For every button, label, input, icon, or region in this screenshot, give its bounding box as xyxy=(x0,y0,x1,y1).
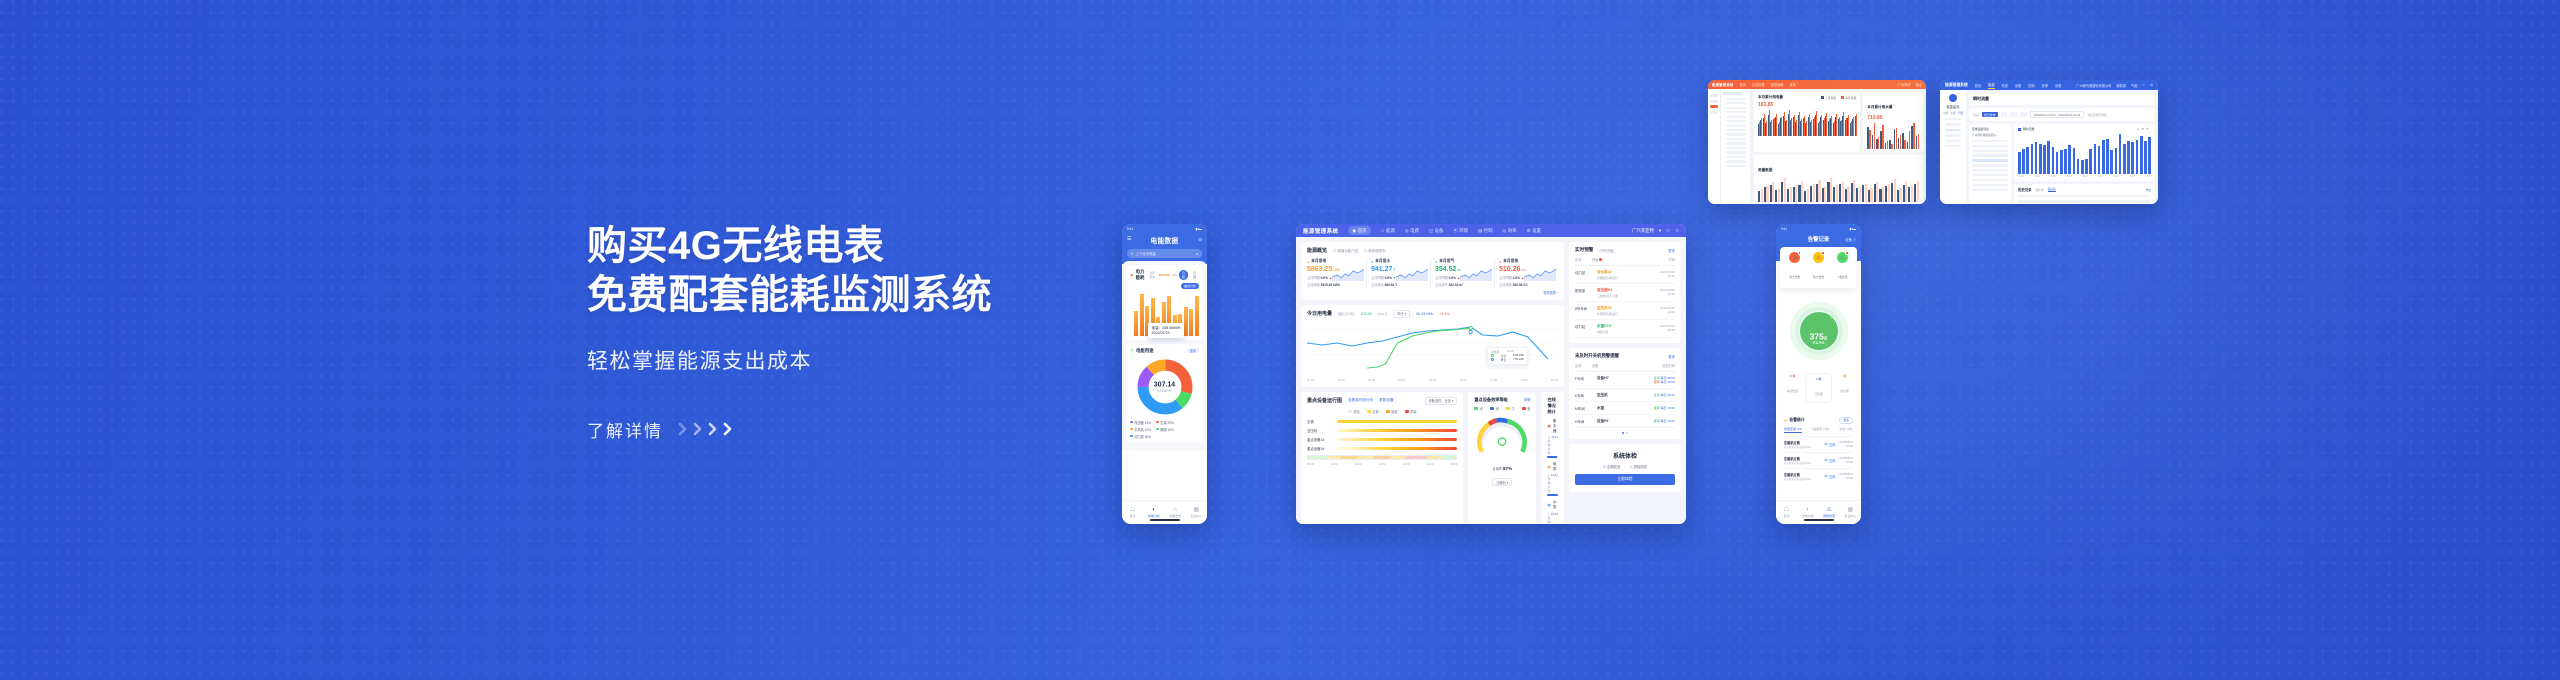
chevron-down-icon[interactable]: ▾ xyxy=(1659,228,1661,234)
notification-icon[interactable]: ☉ xyxy=(1666,228,1670,234)
alarm-category[interactable]: ⚠重大告警 xyxy=(1783,252,1807,283)
ph1-tab-analysis[interactable]: ◐用电分析 xyxy=(1143,507,1164,519)
search-input[interactable]: ⚲ 上个月总电量 ● xyxy=(1127,249,1202,258)
online-row-sub: 上线数/总数10/12 xyxy=(1547,512,1558,524)
run-row: 空压机 xyxy=(1307,428,1457,433)
tablet-menu-efficiency[interactable]: ◎效率 xyxy=(1503,228,1517,234)
bar xyxy=(2035,142,2038,174)
bar-curr xyxy=(1806,121,1807,135)
home-indicator xyxy=(1150,519,1180,521)
reminder-row[interactable]: M车间水室部闭 每日 15:00 xyxy=(1575,402,1675,415)
d2-tree-node[interactable] xyxy=(1972,174,2008,176)
chevrons-right-icon xyxy=(677,421,736,437)
bar xyxy=(1195,296,1199,336)
screenshot-mobile-alarm-records[interactable]: 9:41 ▮▾▬ 告警记录 设备 ▢ ⚠重大告警⚠较大告警⚠一般告警 375天 xyxy=(1776,224,1861,524)
tablet-menu-control[interactable]: ▤控制 xyxy=(1478,228,1492,234)
screenshot-desktop-flow-monitor[interactable]: 能源管理系统 首页 能源 电费 设备 控制 效率 设置 广州现代城盛电有限公司 … xyxy=(1940,80,2158,204)
bar xyxy=(2102,140,2105,175)
bar xyxy=(1184,307,1188,336)
alarm-device: 变压器H1 xyxy=(1597,288,1655,293)
tooltip-swatch xyxy=(1491,358,1493,360)
ph2-tab-alarm[interactable]: ⚠用能告警 xyxy=(1819,507,1840,519)
d2-gear-icon[interactable]: ⚙ xyxy=(2150,83,2153,87)
kpi-header: ●本月用水 xyxy=(1371,259,1426,264)
alarm-device: 水室KT3 xyxy=(1597,324,1655,329)
d2-sidebar-tab-2[interactable]: 气能 xyxy=(1958,111,1963,115)
d2-right-item-0[interactable]: 新能源 xyxy=(2116,83,2126,88)
tablet-menu-home[interactable]: ◉首页 xyxy=(1348,226,1370,235)
d2-tree-node-active[interactable] xyxy=(1972,159,2008,161)
d1-device-tree[interactable] xyxy=(1721,89,1751,204)
d1-rail-item-active[interactable] xyxy=(1710,105,1718,108)
d2-filter-opt[interactable] xyxy=(2010,112,2017,117)
bar-group xyxy=(1803,110,1804,136)
legend-item: 关机 xyxy=(1348,409,1360,414)
alarm-th-0: 区域 xyxy=(1575,257,1592,262)
d2-menu-item-3[interactable]: 设备 xyxy=(2015,83,2021,88)
sys-check-button[interactable]: 立即体检 xyxy=(1575,474,1675,485)
d2-tree-node[interactable] xyxy=(1972,184,2008,186)
d1-tree-node[interactable] xyxy=(1726,98,1746,100)
eff-rate: 87% xyxy=(1503,466,1512,471)
bar-group xyxy=(1868,178,1873,202)
realtime-alarm-card: 实时预警 (所有设备) 更多 区域 设备 时间 动力站深水泵3#长期低功率运行2… xyxy=(1569,242,1681,343)
alarm-stat-label: 本周告警 xyxy=(1787,389,1798,393)
today-value: 103.54 xyxy=(1361,312,1372,316)
legend-item: 动力部 36% xyxy=(1130,434,1151,439)
bar-curr xyxy=(1814,117,1815,136)
tablet-menu-fee[interactable]: ◎电费 xyxy=(1405,228,1419,234)
bar-curr xyxy=(1796,120,1797,135)
d2-menu-item-2[interactable]: 电费 xyxy=(2002,83,2008,88)
x-tick: 12:00 xyxy=(1490,378,1497,382)
d2-filter-note[interactable]: 对比历史同时段 xyxy=(2087,113,2107,117)
bar xyxy=(2022,149,2025,174)
reminder-zone: F车间 xyxy=(1575,376,1592,381)
ph2-list-tab-0[interactable]: 告警区域 (10) xyxy=(1784,427,1802,433)
d2-tree-node[interactable] xyxy=(1972,154,2008,156)
d2-chart-tools-icon[interactable]: ▲■▼ xyxy=(2136,127,2151,131)
bar-curr xyxy=(1761,118,1762,135)
ph1-card2-more[interactable]: 更多 xyxy=(1187,348,1199,354)
ph2-tab-home[interactable]: ☖首页 xyxy=(1776,507,1797,519)
overview-link-0[interactable]: ☐新增功能介绍 xyxy=(1333,248,1358,253)
bar-curr xyxy=(1826,113,1827,135)
d1-tree-node[interactable] xyxy=(1726,107,1746,109)
bar-curr xyxy=(1779,122,1780,136)
bar-group xyxy=(1765,110,1766,136)
d2-tree-node[interactable] xyxy=(1972,164,2008,166)
d1-menu-item-3[interactable]: 设置 xyxy=(1789,82,1795,87)
d1-rail-item[interactable] xyxy=(1710,94,1718,97)
d1-tree-node[interactable] xyxy=(1726,133,1746,135)
row-device: ▤ 空调 xyxy=(1824,458,1835,463)
alarm-row[interactable]: 动力站深水泵3#长期低功率运行2021/03/1512:35 xyxy=(1575,266,1675,284)
d2-tree-node[interactable] xyxy=(1972,150,2008,152)
bar-curr xyxy=(1874,123,1875,148)
bar-curr xyxy=(1774,118,1775,136)
d2-filter-opt[interactable] xyxy=(2001,112,2008,117)
today-usage-card: 今日用电量 (截止12:00) 103.54 kWh/元 昨天 ▾ 98.25 … xyxy=(1301,305,1564,387)
reminder-schedule: 全闭 每日 09:00 xyxy=(1654,393,1675,398)
d1-tree-node[interactable] xyxy=(1726,160,1746,162)
d2-bell-icon[interactable]: ☉ xyxy=(2142,83,2145,87)
alarm-stat[interactable]: 1条未处理 xyxy=(1832,373,1857,403)
bar-curr xyxy=(1905,182,1907,201)
d2-sidebar[interactable]: 能源监测 电能 水能 气能 xyxy=(1940,90,1966,204)
ph1-tab-alarm[interactable]: ⚠用能告警 xyxy=(1165,507,1186,519)
d1-tree-node[interactable] xyxy=(1726,138,1746,140)
ph1-tab-home[interactable]: ☖首页 xyxy=(1122,507,1143,519)
alarm-stat[interactable]: 10条已处理 xyxy=(1805,373,1832,403)
d2-right-item-1[interactable]: 气能 xyxy=(2131,83,2137,88)
d1-panel-1-title: 本月累计用水量 xyxy=(1867,105,1892,109)
d2-menu-item-5[interactable]: 效率 xyxy=(2042,83,2048,88)
run-header: 重点设备运行图 查看各时段分析 参数设置 设备选择：全选 ▾ xyxy=(1307,397,1457,405)
shield-icon: ☉ xyxy=(1630,465,1633,469)
online-progress xyxy=(1547,494,1558,496)
alarm-scope: (所有设备) xyxy=(1599,248,1614,253)
carousel-dots[interactable] xyxy=(1575,432,1675,434)
bar-group xyxy=(1805,110,1806,136)
x-tick: 02:00 xyxy=(1338,378,1345,382)
alarm-zone: 动力站 xyxy=(1575,270,1592,275)
headline-line-1: 购买4G无线电表 xyxy=(587,222,1107,271)
bar xyxy=(1140,294,1144,336)
d1-tree-node[interactable] xyxy=(1726,116,1746,118)
run-device-select[interactable]: 设备选择：全选 ▾ xyxy=(1425,397,1458,405)
d2-device-tree[interactable]: 区域设备列表 广州现代城盛集团公... xyxy=(1969,124,2011,204)
x-tick: 04:00 xyxy=(1331,462,1338,466)
bar-curr xyxy=(1830,178,1832,202)
alarm-desc: 三相电流不平衡 xyxy=(1597,294,1655,298)
d2-tree-node[interactable] xyxy=(1972,169,2008,171)
bar-group xyxy=(1842,110,1843,136)
d1-icon-rail[interactable] xyxy=(1708,89,1721,204)
d1-menu[interactable]: 首页 认证抄表 智慧运维 设置 xyxy=(1740,82,1796,87)
run-row-bar[interactable] xyxy=(1337,429,1457,432)
bar-group xyxy=(1847,110,1848,136)
ph1-card1-value: 3044.62 xyxy=(1159,273,1170,277)
bar xyxy=(2140,136,2143,175)
alarm-list-row[interactable]: 压缩机过载高于额定功率范围的20%▤ 空调2018/08/1112:56 xyxy=(1784,468,1853,484)
d2-menu-item-1[interactable]: 能源 xyxy=(1988,82,1994,89)
legend-item: 差 xyxy=(1522,406,1531,411)
run-row-bar[interactable] xyxy=(1337,438,1457,441)
row-desc: 高于额定功率范围的20% xyxy=(1784,477,1820,481)
ph1-chart-tooltip: 电量：268.56kWh 2022/01/15 xyxy=(1148,323,1184,338)
bar-group xyxy=(1818,110,1819,136)
run-link-1[interactable]: 参数设置 xyxy=(1379,398,1393,403)
bar-group xyxy=(1775,110,1776,136)
tooltip-title: 用电量 xyxy=(1491,350,1499,354)
bar-curr xyxy=(1818,180,1820,201)
alarm-row[interactable]: 8号车间空压机3#长期低功率运行2021/03/1510:05 xyxy=(1575,302,1675,320)
bar-curr xyxy=(1836,114,1837,135)
alarm-time: 2021/03/1508:36 xyxy=(1660,324,1675,333)
ph1-tab-daily[interactable]: 日报 xyxy=(1179,270,1188,280)
tablet-menu-device[interactable]: ◫设备 xyxy=(1429,228,1443,234)
ph2-list-tab-2[interactable]: 综合 (0条) xyxy=(1839,427,1853,433)
d2-sidebar-tab-0[interactable]: 电能 xyxy=(1943,111,1948,115)
d1-menu-item-0[interactable]: 首页 xyxy=(1740,82,1746,87)
bar-curr xyxy=(1784,112,1785,135)
help-icon[interactable]: ☉ xyxy=(1675,228,1679,234)
d1-tree-node[interactable] xyxy=(1726,129,1746,131)
remind-th-2: 检查时间 xyxy=(1662,363,1675,368)
d1-rail-item[interactable] xyxy=(1710,100,1718,103)
bolt-icon: ☆ xyxy=(1381,228,1385,234)
legend-item: 优 xyxy=(1474,406,1483,411)
list-icon: ☰ xyxy=(1784,418,1787,423)
bolt-icon: ● xyxy=(1307,260,1309,264)
alarm-stat[interactable]: 11条本周告警 xyxy=(1780,373,1805,403)
bar-curr xyxy=(1899,188,1901,202)
d1-tree-node[interactable] xyxy=(1726,165,1746,167)
d1-tree-node[interactable] xyxy=(1726,156,1746,158)
reminder-schedule: 部闭 每日 18:00 xyxy=(1654,419,1675,424)
x-tick: 14:00 xyxy=(1521,378,1528,382)
bar-curr xyxy=(1811,120,1812,136)
d1-menu-item-2[interactable]: 智慧运维 xyxy=(1771,82,1784,87)
ph2-device-filter[interactable]: 设备 ▢ xyxy=(1845,237,1856,242)
device-icon: ▣ xyxy=(1547,424,1550,428)
tablet-menu-settings[interactable]: ⚙设置 xyxy=(1527,228,1541,234)
mic-icon[interactable]: ● xyxy=(1196,252,1198,256)
bar xyxy=(1134,311,1138,336)
d2-sidebar-item[interactable] xyxy=(1945,140,1961,142)
efficiency-card: 重点设备效率等级 详情 优良中差 xyxy=(1468,392,1536,524)
d1-panel-2-title: 用量数据 xyxy=(1758,168,1772,172)
bar-group xyxy=(1778,110,1779,136)
bar xyxy=(2094,144,2097,174)
alarm-table-header: 区域 设备 时间 xyxy=(1575,257,1675,266)
bar-curr xyxy=(1764,114,1765,135)
bar-curr xyxy=(1894,179,1896,201)
reminder-row[interactable]: H车间设备F9部闭 每日 18:00 xyxy=(1575,415,1675,428)
alarm-row[interactable]: 动力站水室KT3B相过流2021/03/1508:36 xyxy=(1575,320,1675,338)
today-tooltip: 用电量 12:00 今日8.55 kWh 昨日7.83 kWh xyxy=(1487,347,1528,365)
bar xyxy=(2077,159,2080,174)
kpi-row: ●本月用电5863.25kWh上月同期 9.6% ▲上月用电 5319.45 k… xyxy=(1307,259,1558,287)
d2-sidebar-item[interactable] xyxy=(1945,134,1961,136)
tablet-user-area[interactable]: 广汽菲亚特 ▾ ☉ ☉ xyxy=(1632,228,1679,234)
tablet-body: 能源概览 ☐新增功能介绍 ☐系统说明书 ●本月用电5863.25kWh上月同期 … xyxy=(1296,237,1686,524)
d2-filter-bar[interactable]: 时间 按日查询 2019/08/19 00:00 ~ 2019/08/19 23… xyxy=(1969,108,2155,121)
run-timeline[interactable] xyxy=(1307,455,1457,460)
d2-menu-item-4[interactable]: 控制 xyxy=(2028,83,2034,88)
ph1-time: 9:41 xyxy=(1127,227,1133,231)
d1-tree-node[interactable] xyxy=(1726,142,1746,144)
bar-curr xyxy=(1887,141,1888,149)
tablet-menu-energy[interactable]: ☆能源 xyxy=(1381,228,1395,234)
eff-device-select[interactable]: 压缩机 ▾ xyxy=(1492,478,1512,486)
bar-group xyxy=(1798,178,1803,202)
bar-group xyxy=(1852,110,1853,136)
ph1-tabs[interactable]: 日报 月报 xyxy=(1179,270,1199,280)
bar-group xyxy=(1845,178,1850,202)
tooltip-swatch xyxy=(1491,354,1493,356)
d2-filter-range[interactable]: 2019/08/19 00:00 ~ 2019/08/19 23:45 xyxy=(2030,111,2085,118)
bar-group xyxy=(1891,178,1896,202)
bar xyxy=(2144,141,2147,174)
alarm-more[interactable]: 更多 xyxy=(1668,248,1675,253)
bar-curr xyxy=(1784,178,1786,201)
bar-group xyxy=(1897,178,1902,202)
bar-curr xyxy=(1786,120,1787,136)
remind-title: 未及时开关机预警提醒 xyxy=(1575,353,1619,359)
x-tick: 16:00 xyxy=(1551,378,1558,382)
tablet-topbar: 能源管理系统 ◉首页 ☆能源 ◎电费 ◫设备 ⦿环境 ▤控制 ◎效率 ⚙设置 广… xyxy=(1296,224,1686,237)
d1-tree-node[interactable] xyxy=(1726,120,1746,122)
bar-group xyxy=(1800,110,1801,136)
d2-tree-node[interactable] xyxy=(1972,145,2008,147)
reminder-row[interactable]: E车间空压机全闭 每日 09:00 xyxy=(1575,389,1675,402)
d1-tree-node[interactable] xyxy=(1726,147,1746,149)
screenshot-tablet-energy-overview[interactable]: 能源管理系统 ◉首页 ☆能源 ◎电费 ◫设备 ⦿环境 ▤控制 ◎效率 ⚙设置 广… xyxy=(1296,224,1686,524)
d1-chart-water xyxy=(1867,123,1919,149)
ph2-tab-company[interactable]: ▦企业中心 xyxy=(1840,507,1861,519)
bell-icon: ⚠ xyxy=(1813,252,1824,263)
run-row-bar[interactable] xyxy=(1337,420,1457,423)
bar xyxy=(2110,150,2113,174)
bar xyxy=(2127,141,2130,174)
screenshot-desktop-abnormal-report[interactable]: 能源管理系统 首页 认证抄表 智慧运维 设置 广州现代 退出 xyxy=(1708,80,1926,204)
row-desc: 高于额定功率范围的20% xyxy=(1784,461,1820,465)
alarm-list-row[interactable]: 压缩机过载高于额定功率范围的20%▤ 空调2018/08/1112:56 xyxy=(1784,452,1853,468)
alarm-zone: 8号车间 xyxy=(1575,306,1592,311)
x-tick: 20:00 xyxy=(1426,462,1433,466)
eff-more[interactable]: 详情 xyxy=(1524,397,1531,402)
d1-main: 本月累计用电量 上月用量 本月用量 163.85 本月累计用水量 xyxy=(1751,89,1926,204)
d1-tree-node[interactable] xyxy=(1726,151,1746,153)
ph1-curve-button[interactable]: 曲线分析 xyxy=(1181,283,1199,289)
ph1-tab-monthly[interactable]: 月报 xyxy=(1190,270,1199,280)
screenshot-mobile-power-data[interactable]: 9:41 ▮▾▬ ☰ ⚙ 电能数据 ⚲ 上个月总电量 ● ⚑ 电力能耗 xyxy=(1122,224,1207,524)
d2-menu-item-0[interactable]: 首页 xyxy=(1975,83,1981,88)
bar-curr xyxy=(1878,137,1879,148)
alarm-rows: 动力站深水泵3#长期低功率运行2021/03/1512:35配电室变压器H1三相… xyxy=(1575,266,1675,338)
gear-icon[interactable]: ⚙ xyxy=(1198,237,1202,243)
d2-filter-active[interactable]: 按日查询 xyxy=(1982,112,1998,117)
bar-group xyxy=(1898,123,1901,149)
d2-tree-root[interactable]: 广州现代城盛集团公... xyxy=(1972,133,2008,137)
tablet-brand: 能源管理系统 xyxy=(1303,227,1338,235)
alarm-list-row[interactable]: 压缩机过载高于额定功率范围的20%▤ 空调2018/08/1112:56 xyxy=(1784,436,1853,452)
bar-group xyxy=(1879,178,1884,202)
kpi-sparkline xyxy=(1396,267,1428,286)
d2-history-tab-1[interactable]: 按设备 xyxy=(2048,187,2056,192)
d1-menu-item-1[interactable]: 认证抄表 xyxy=(1752,82,1765,87)
d2-history-export[interactable]: 导出 xyxy=(2146,188,2151,192)
overview-header: 能源概览 ☐新增功能介绍 ☐系统说明书 xyxy=(1307,247,1558,254)
bar-curr xyxy=(1831,116,1832,136)
bar-group xyxy=(1775,178,1780,202)
d2-tree-node[interactable] xyxy=(1972,189,2008,191)
table-row[interactable] xyxy=(2018,195,2151,197)
d2-sidebar-tab-1[interactable]: 水能 xyxy=(1950,111,1955,115)
reminder-zone: H车间 xyxy=(1575,419,1592,424)
d2-tree-node[interactable] xyxy=(1972,140,2008,142)
d1-rail-item[interactable] xyxy=(1710,111,1718,114)
overview-link-1[interactable]: ☐系统说明书 xyxy=(1364,248,1385,253)
learn-more-label: 了解详情 xyxy=(587,417,663,442)
legend-item: 引风机 12% xyxy=(1130,427,1151,432)
flag-icon: ⚑ xyxy=(1130,273,1134,278)
d2-menu-item-6[interactable]: 设置 xyxy=(2055,83,2061,88)
d1-user-area[interactable]: 广州现代 退出 xyxy=(1898,82,1922,87)
d2-history-tab-0[interactable]: 按区域 xyxy=(2036,188,2044,192)
today-line-chart: 用电量 12:00 今日8.55 kWh 昨日7.83 kWh xyxy=(1307,321,1558,376)
ph2-tab-analysis[interactable]: ◐用电分析 xyxy=(1797,507,1818,519)
ph2-stats[interactable]: 11条本周告警10条已处理1条未处理 xyxy=(1780,373,1857,403)
reminder-device: 设备F9 xyxy=(1597,419,1649,424)
reminder-row[interactable]: F车间设备H7全闭 每日 08:00部闭 每日 18:00 xyxy=(1575,372,1675,389)
alarm-device: 深水泵3# xyxy=(1597,270,1655,275)
book-icon: ☐ xyxy=(1364,249,1367,253)
d1-logout[interactable]: 退出 xyxy=(1916,82,1922,87)
report-link[interactable]: 查看报表 › xyxy=(1307,290,1558,295)
sys-item-1: ☉ 清除风险 xyxy=(1630,464,1648,469)
ph2-list-tab-1[interactable]: 一般告警 (1条) xyxy=(1810,427,1830,433)
alarm-category[interactable]: ⚠一般告警 xyxy=(1830,252,1854,283)
today-x-axis: 00:0002:0004:0006:0008:0010:0012:0014:00… xyxy=(1307,378,1558,382)
bar-curr xyxy=(1882,125,1883,148)
table-row[interactable] xyxy=(2018,200,2151,202)
today-range-select[interactable]: 昨天 ▾ xyxy=(1393,310,1410,318)
bar-curr xyxy=(1761,189,1763,201)
ph2-list-more[interactable]: 更多 xyxy=(1839,417,1853,424)
d1-tree-node[interactable] xyxy=(1726,102,1746,104)
tablet-menu-env[interactable]: ⦿环境 xyxy=(1453,228,1468,234)
d2-sidebar-item[interactable] xyxy=(1945,145,1961,147)
ph2-list-tabs[interactable]: 告警区域 (10) 一般告警 (1条) 综合 (0条) xyxy=(1784,427,1853,433)
search-placeholder: 上个月总电量 xyxy=(1135,251,1155,256)
remind-more[interactable]: 更多 xyxy=(1668,354,1675,359)
ph1-card2-header: ⦿ 电能用途 更多 xyxy=(1130,348,1199,354)
d2-tree-node[interactable] xyxy=(1972,179,2008,181)
remind-header: 未及时开关机预警提醒 更多 xyxy=(1575,353,1675,359)
bar-curr xyxy=(1821,115,1822,136)
alarm-row[interactable]: 配电室变压器H1三相电流不平衡2021/03/1510:39 xyxy=(1575,284,1675,302)
ph1-tab-company[interactable]: ▦企业中心 xyxy=(1186,507,1207,519)
device-icon: ▣ xyxy=(1547,503,1550,507)
d2-sidebar-item[interactable] xyxy=(1945,123,1961,125)
alarm-category[interactable]: ⚠较大告警 xyxy=(1807,252,1831,283)
d2-sidebar-item-active[interactable] xyxy=(1945,129,1961,131)
calendar-icon: ☑ xyxy=(1603,465,1606,469)
alarm-desc: 长期低功率运行 xyxy=(1597,276,1655,280)
d2-sidebar-item[interactable] xyxy=(1945,118,1961,120)
d1-tree-node[interactable] xyxy=(1726,125,1746,127)
ph2-categories[interactable]: ⚠重大告警⚠较大告警⚠一般告警 xyxy=(1780,247,1857,288)
bar-group xyxy=(1874,178,1879,202)
d2-filter-opt[interactable] xyxy=(2020,112,2027,117)
bar-curr xyxy=(1809,114,1810,135)
run-link-0[interactable]: 查看各时段分析 xyxy=(1348,398,1373,403)
bar-group xyxy=(1813,110,1814,136)
ph2-time: 9:41 xyxy=(1781,227,1787,231)
menu-icon[interactable]: ☰ xyxy=(1127,236,1131,242)
d1-tree-node[interactable] xyxy=(1726,111,1746,113)
learn-more-button[interactable]: 了解详情 xyxy=(587,417,1107,442)
bar-group xyxy=(1780,110,1781,136)
bar-group xyxy=(1827,178,1832,202)
ph1-card1-unit: kWh xyxy=(1172,274,1177,277)
run-row-bar[interactable] xyxy=(1337,447,1457,450)
ph1-header: ☰ ⚙ 电能数据 ⚲ 上个月总电量 ● xyxy=(1122,233,1207,264)
bar-group xyxy=(1856,178,1861,202)
